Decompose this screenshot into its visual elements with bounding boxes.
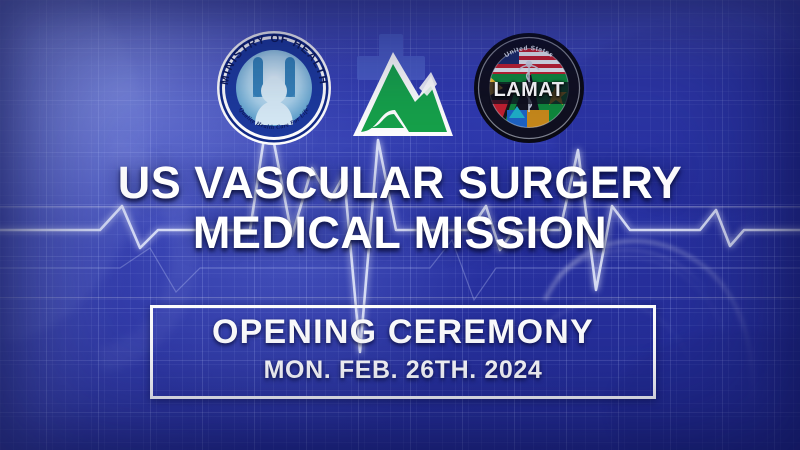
presentation-slide: MINISTRY OF HEALTH "Quality Health Care … <box>0 0 800 450</box>
vignette-overlay <box>0 0 800 450</box>
